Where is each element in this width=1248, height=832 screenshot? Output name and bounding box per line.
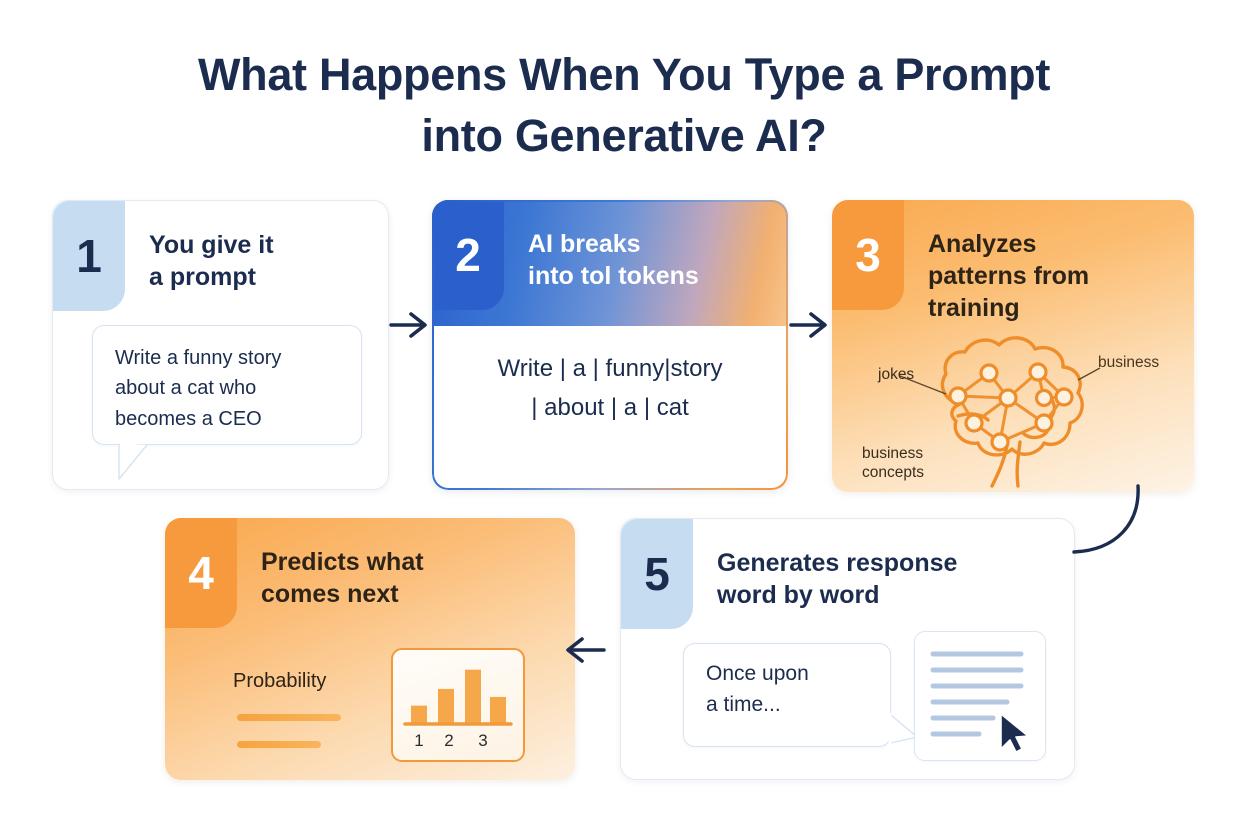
step-title-3-line-3: training: [928, 292, 1176, 324]
label-business-concepts-line-1: business: [862, 445, 924, 464]
speech-bubble-tail-1: [89, 441, 159, 485]
prompt-line-3: becomes a CEO: [115, 404, 341, 434]
step-title-3-line-1: Analyzes: [928, 228, 1176, 260]
step-title-3-line-2: patterns from: [928, 260, 1176, 292]
step-title-4: Predicts what comes next: [261, 546, 557, 610]
probability-bar-chart: 123: [391, 648, 525, 762]
arrow-step5-to-step4: [556, 630, 608, 670]
step-title-2-line-1: AI breaks: [528, 228, 770, 260]
step-number-badge-2: 2: [432, 200, 504, 310]
chart-bar: [411, 706, 427, 723]
page-title: What Happens When You Type a Prompt into…: [0, 44, 1248, 166]
chart-tick-label: 2: [444, 731, 453, 750]
chart-tick-label: 3: [478, 731, 487, 750]
infographic-canvas: What Happens When You Type a Prompt into…: [0, 0, 1248, 832]
step-title-5-line-2: word by word: [717, 579, 1056, 611]
step-number-badge-1: 1: [53, 201, 125, 311]
step-card-4[interactable]: 4 Predicts what comes next Probability 1…: [165, 518, 575, 780]
label-business-concepts-line-2: concepts: [862, 464, 924, 483]
response-line-2: a time...: [706, 689, 890, 720]
prompt-line-2: about a cat who: [115, 373, 341, 403]
arrow-step1-to-step2: [389, 305, 435, 345]
step-number-badge-4: 4: [165, 518, 237, 628]
step-title-1-line-1: You give it: [149, 229, 370, 261]
response-line-1: Once upon: [706, 658, 890, 689]
probability-line-1: [237, 714, 341, 721]
arrow-step2-to-step3: [789, 305, 835, 345]
step-title-1: You give it a prompt: [149, 229, 370, 293]
step-number-badge-3: 3: [832, 200, 904, 310]
label-business-concepts: business concepts: [862, 445, 924, 482]
response-text: Once upon a time...: [706, 658, 890, 720]
prompt-speech-bubble: Write a funny story about a cat who beco…: [92, 325, 362, 445]
chart-tick-label: 1: [414, 731, 423, 750]
probability-label: Probability: [233, 670, 326, 693]
step-card-2[interactable]: 2 AI breaks into tol tokens Write | a | …: [432, 200, 788, 490]
curve-step3-to-step5: [1060, 480, 1170, 590]
step-card-1[interactable]: 1 You give it a prompt Write a funny sto…: [52, 200, 389, 490]
token-line-1: Write | a | funny|story: [460, 350, 760, 389]
probability-line-2: [237, 741, 321, 748]
step-number-badge-5: 5: [621, 519, 693, 629]
step-title-3: Analyzes patterns from training: [928, 228, 1176, 324]
step-title-1-line-2: a prompt: [149, 261, 370, 293]
step-card-3[interactable]: 3 Analyzes patterns from training: [832, 200, 1194, 492]
token-line-2: | about | a | cat: [460, 389, 760, 428]
label-jokes: jokes: [878, 366, 914, 385]
step-title-5-line-1: Generates response: [717, 547, 1056, 579]
chart-bar: [490, 697, 506, 723]
prompt-text: Write a funny story about a cat who beco…: [115, 343, 341, 434]
chart-bar: [438, 689, 454, 723]
title-line-2: into Generative AI?: [0, 105, 1248, 166]
step-title-4-line-1: Predicts what: [261, 546, 557, 578]
title-line-1: What Happens When You Type a Prompt: [198, 49, 1050, 100]
response-speech-bubble: Once upon a time...: [683, 643, 891, 747]
step-title-2: AI breaks into tol tokens: [528, 228, 770, 292]
label-business: business: [1098, 354, 1159, 373]
probability-bars-decoration: [237, 714, 341, 768]
token-panel: Write | a | funny|story | about | a | ca…: [432, 326, 788, 490]
chart-bar: [465, 670, 481, 723]
step-title-5: Generates response word by word: [717, 547, 1056, 611]
step-card-5[interactable]: 5 Generates response word by word Once u…: [620, 518, 1075, 780]
token-text: Write | a | funny|story | about | a | ca…: [460, 350, 760, 428]
step-title-2-line-2: into tol tokens: [528, 260, 770, 292]
document-lines-icon: [914, 631, 1046, 761]
cursor-arrow-icon: [1001, 714, 1028, 752]
bar-chart-svg: 123: [393, 650, 523, 760]
step-title-4-line-2: comes next: [261, 578, 557, 610]
prompt-line-1: Write a funny story: [115, 343, 341, 373]
